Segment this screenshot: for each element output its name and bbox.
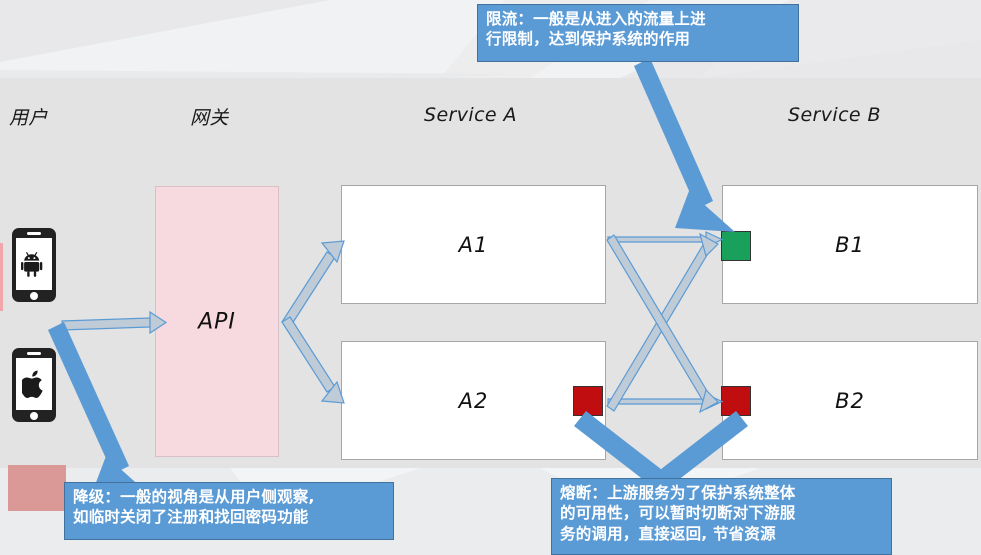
apple-icon [16,358,52,410]
status-chip-b1-green [721,231,751,261]
callout-rate-limit-line-1: 限流：一般是从进入的流量上进 [486,9,791,29]
column-label-gateway: 网关 [190,103,229,130]
status-chip-a2-red [573,386,603,416]
column-label-users: 用户 [9,103,48,130]
node-label-b1: B1 [723,233,977,257]
callout-circuit-breaker-line-3: 务的调用，直接返回, 节省资源 [560,524,884,544]
gateway-api-label: API [156,309,278,334]
node-label-a2: A2 [342,389,605,413]
callout-circuit-breaker[interactable]: 熔断：上游服务为了保护系统整体 的可用性，可以暂时切断对下游服 务的调用，直接返… [551,478,892,555]
callout-circuit-breaker-line-1: 熔断：上游服务为了保护系统整体 [560,483,884,503]
phone-speaker [27,352,41,355]
phone-speaker [27,232,41,235]
android-icon [16,238,52,290]
diagram-canvas: 用户 网关 Service A Service B [0,0,981,555]
service-a-node-a2[interactable]: A2 [341,341,606,460]
callout-rate-limit-line-2: 行限制，达到保护系统的作用 [486,29,791,49]
column-label-service-b: Service B [788,104,881,126]
service-b-node-b1[interactable]: B1 [722,185,978,304]
status-chip-b2-red [721,386,751,416]
service-a-node-a1[interactable]: A1 [341,185,606,304]
column-label-service-a: Service A [424,104,517,126]
callout-rate-limit[interactable]: 限流：一般是从进入的流量上进 行限制，达到保护系统的作用 [477,4,799,62]
gateway-api-box[interactable]: API [155,186,279,457]
left-edge-pink-strip [0,243,3,311]
client-apple-phone [12,348,56,422]
salmon-block [8,465,66,511]
callout-circuit-breaker-line-2: 的可用性，可以暂时切断对下游服 [560,503,884,523]
client-android-phone [12,228,56,302]
callout-degrade[interactable]: 降级：一般的视角是从用户侧观察, 如临时关闭了注册和找回密码功能 [64,482,394,540]
phone-home-button [30,412,38,420]
service-b-node-b2[interactable]: B2 [722,341,978,460]
phone-home-button [30,292,38,300]
callout-degrade-line-1: 降级：一般的视角是从用户侧观察, [73,487,386,507]
callout-degrade-line-2: 如临时关闭了注册和找回密码功能 [73,507,386,527]
node-label-b2: B2 [723,389,977,413]
node-label-a1: A1 [342,233,605,257]
